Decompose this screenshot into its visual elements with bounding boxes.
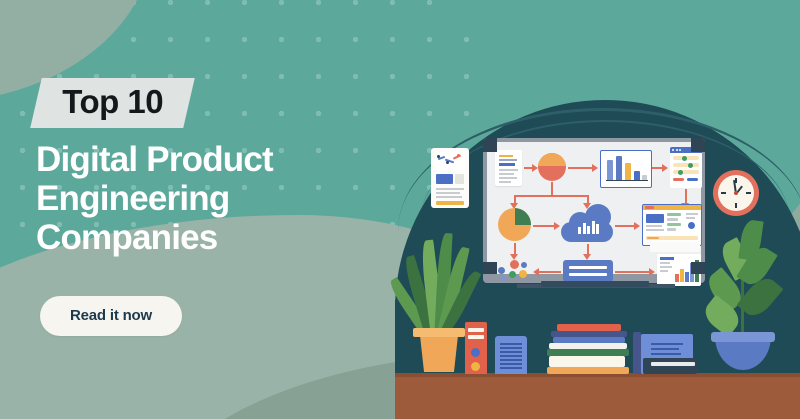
- blue-book: [495, 336, 527, 374]
- flow-node-document-card: [495, 150, 522, 186]
- flow-node-dashboard-window: [642, 204, 702, 246]
- flow-node-scatter-dots: [497, 260, 531, 284]
- dark-tray: [643, 358, 697, 374]
- page-title: Digital Product Engineering Companies: [36, 140, 396, 258]
- flow-node-pie-chart: [498, 208, 531, 241]
- flow-node-orange-sphere: [538, 153, 566, 181]
- wall-report-card-icon: [431, 148, 469, 208]
- flow-node-bar-chart-screen: [600, 150, 652, 188]
- wall-clock: [713, 170, 759, 216]
- clock-center-pin: [734, 191, 738, 195]
- dark-tray-paper: [651, 362, 695, 366]
- whiteboard-marker-tray: [541, 281, 649, 287]
- desk-front: [395, 387, 800, 419]
- top-10-badge-label: Top 10: [62, 83, 163, 121]
- plant-pot-blue-rim: [711, 332, 775, 342]
- banner: Top 10 Digital Product Engineering Compa…: [0, 0, 800, 419]
- headline-line-2: Engineering: [36, 179, 396, 218]
- office-illustration: [395, 100, 800, 419]
- flow-node-cloud-analytics: [561, 204, 613, 242]
- flow-node-input-bar: [563, 260, 613, 282]
- flow-node-settings-list-window: [670, 147, 702, 188]
- headline-line-3: Companies: [36, 218, 396, 257]
- whiteboard-clip-top-left: [483, 138, 497, 152]
- whiteboard-clip-top-right: [691, 138, 705, 152]
- whiteboard-clip-bottom-left: [483, 262, 497, 274]
- read-it-now-label: Read it now: [70, 307, 152, 324]
- whiteboard-surface: [487, 142, 701, 274]
- folder-spine: [633, 332, 641, 374]
- whiteboard-clip-bottom-right: [691, 262, 705, 274]
- read-it-now-button[interactable]: Read it now: [40, 296, 182, 336]
- headline-line-1: Digital Product: [36, 140, 396, 179]
- book-stack: [547, 324, 631, 374]
- whiteboard: [483, 138, 705, 283]
- red-binder: [465, 322, 487, 374]
- top-10-badge: Top 10: [30, 78, 194, 128]
- plant-pot-orange: [417, 332, 461, 372]
- plant-pot-orange-rim: [413, 328, 465, 337]
